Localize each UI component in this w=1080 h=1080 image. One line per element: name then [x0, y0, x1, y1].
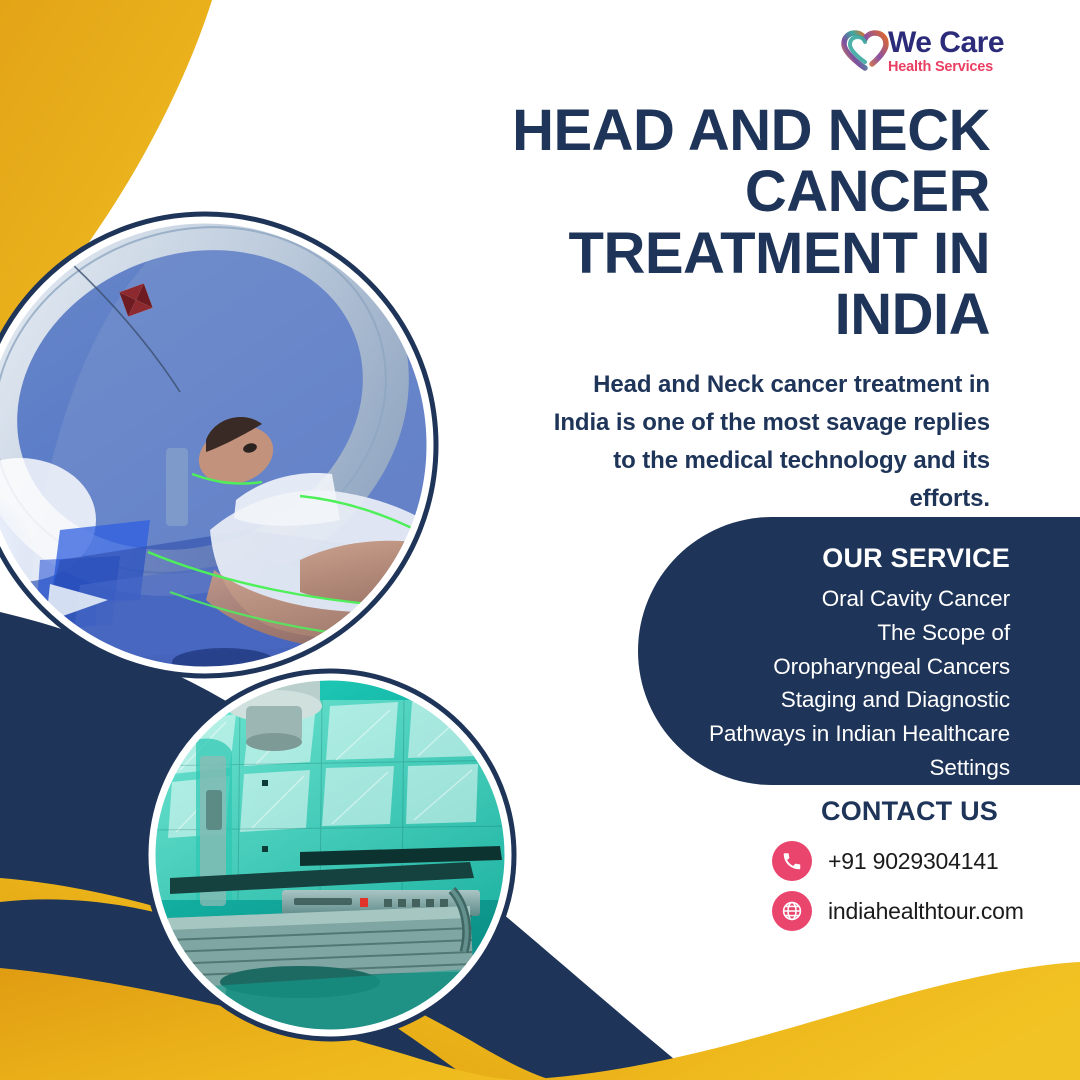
list-item: Settings: [678, 751, 1010, 785]
logo-name: We Care: [888, 28, 1000, 58]
list-item: Staging and Diagnostic: [678, 683, 1010, 717]
logo-tagline: Health Services: [888, 58, 1000, 76]
phone-number: +91 9029304141: [828, 848, 999, 875]
list-item: Oral Cavity Cancer: [678, 582, 1010, 616]
page-subtitle: Head and Neck cancer treatment in India …: [540, 366, 990, 518]
bottom-photo: [150, 672, 515, 1035]
website-url: indiahealthtour.com: [828, 898, 1024, 925]
globe-icon: [772, 891, 812, 931]
list-item: Oropharyngeal Cancers: [678, 650, 1010, 684]
contact-phone-row[interactable]: +91 9029304141: [640, 841, 998, 881]
list-item: Pathways in Indian Healthcare: [678, 717, 1010, 751]
poster-canvas: We Care Health Services HEAD AND NECK CA…: [0, 0, 1080, 1080]
logo-wordmark: We Care Health Services: [888, 28, 1000, 76]
brand-logo[interactable]: We Care Health Services: [838, 26, 998, 84]
contact-website-row[interactable]: indiahealthtour.com: [640, 891, 998, 931]
top-photo: [0, 169, 510, 720]
heart-gradient-icon: [838, 28, 892, 72]
our-service-panel: OUR SERVICE Oral Cavity Cancer The Scope…: [638, 517, 1080, 785]
our-service-heading: OUR SERVICE: [678, 541, 1010, 576]
phone-icon: [772, 841, 812, 881]
contact-section: CONTACT US +91 9029304141 indiahealthtou…: [640, 796, 998, 931]
list-item: The Scope of: [678, 616, 1010, 650]
service-list: Oral Cavity Cancer The Scope of Orophary…: [678, 582, 1010, 785]
page-title: HEAD AND NECK CANCER TREATMENT IN INDIA: [470, 100, 990, 346]
contact-heading: CONTACT US: [640, 796, 998, 827]
